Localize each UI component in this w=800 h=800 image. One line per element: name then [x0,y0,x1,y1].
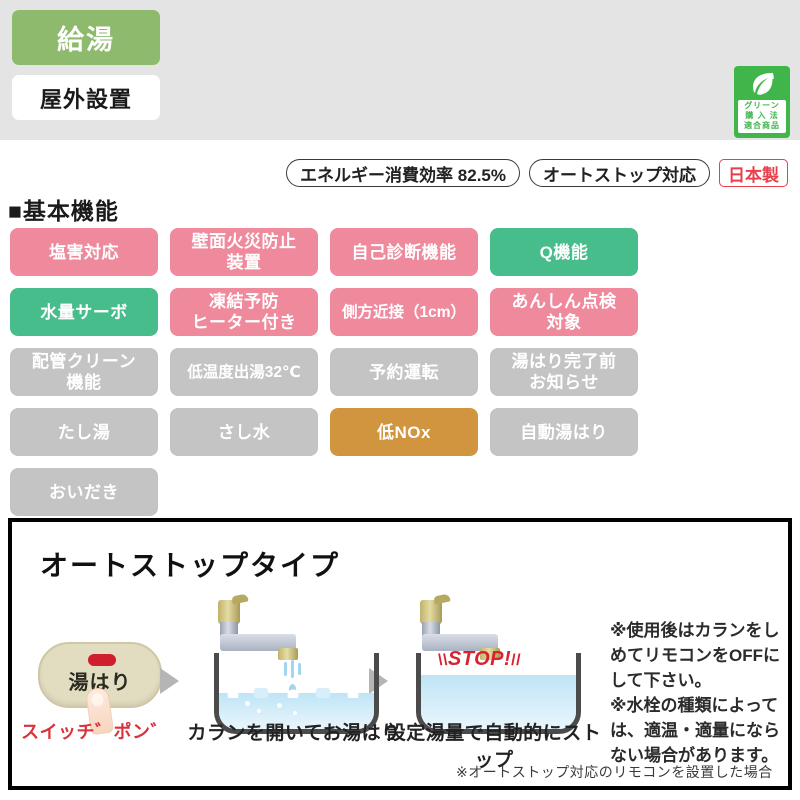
faucet-knob-icon [218,600,240,624]
feature-tag: 水量サーボ [10,288,158,336]
step-caption-fill: カランを開いてお湯はり [184,718,404,745]
autostop-panel: オートストップタイプ 湯はり スイッチ゛ポン゛ [8,518,792,790]
feature-tag-grid: 塩害対応壁面火災防止装置自己診断機能Q機能水量サーボ凍結予防ヒーター付き側方近接… [10,228,790,516]
feature-tag: あんしん点検対象 [490,288,638,336]
green-badge-line-1: グリーン [738,101,786,111]
usage-note-0: ※使用後はカランをしめてリモコンをOFFにして下さい。 [610,618,790,693]
spec-pill-2: 日本製 [719,159,788,187]
feature-tag: 凍結予防ヒーター付き [170,288,318,336]
feature-tag: 塩害対応 [10,228,158,276]
green-badge-text: グリーン 購 入 法 適合商品 [738,100,786,133]
feature-tag: 湯はり完了前お知らせ [490,348,638,396]
green-purchasing-law-badge: グリーン 購 入 法 適合商品 [734,66,790,138]
step-caption-switch: スイッチ゛ポン゛ [20,718,170,744]
feature-tag: 配管クリーン機能 [10,348,158,396]
installation-type-label: 屋外設置 [40,82,132,114]
leaf-icon [748,68,776,100]
feature-tag: たし湯 [10,408,158,456]
feature-tag: 自動湯はり [490,408,638,456]
arrow-right-icon [160,668,179,694]
spec-pill-0: エネルギー消費効率 82.5% [286,159,520,187]
water-bubble [257,709,261,713]
feature-tag: Q機能 [490,228,638,276]
water-bubble [293,711,297,715]
feature-tag: さし水 [170,408,318,456]
feature-tag: 壁面火災防止装置 [170,228,318,276]
category-badge-label: 給湯 [57,18,115,57]
switch-led-icon [88,654,116,666]
feature-tag: おいだき [10,468,158,516]
feature-tag: 自己診断機能 [330,228,478,276]
water-bubble [245,701,250,706]
usage-note-1: ※水栓の種類によっては、適温・適量にならない場合があります。 [610,693,790,768]
spec-pill-1: オートストップ対応 [529,159,710,187]
faucet-tip [278,648,298,660]
autostop-panel-title: オートストップタイプ [40,544,340,584]
water-bubble [277,703,282,708]
header-band: 給湯 屋外設置 [0,0,800,140]
page-title: ■基本機能 [8,192,119,226]
usage-notes: ※使用後はカランをしめてリモコンをOFFにして下さい。※水栓の種類によっては、適… [610,618,790,768]
feature-tag: 予約運転 [330,348,478,396]
faucet-knob-icon [420,600,442,624]
category-badge: 給湯 [12,10,160,65]
installation-type-badge: 屋外設置 [12,75,160,120]
water-wave [219,688,374,698]
green-badge-line-3: 適合商品 [738,121,786,131]
feature-tag: 低NOx [330,408,478,456]
feature-tag: 側方近接（1cm） [330,288,478,336]
panel-footnote: ※オートストップ対応のリモコンを設置した場合 [456,762,773,782]
feature-tag: 低温度出湯32℃ [170,348,318,396]
green-badge-line-2: 購 入 法 [738,111,786,121]
spec-pill-row: エネルギー消費効率 82.5%オートストップ対応日本製 [0,158,788,188]
